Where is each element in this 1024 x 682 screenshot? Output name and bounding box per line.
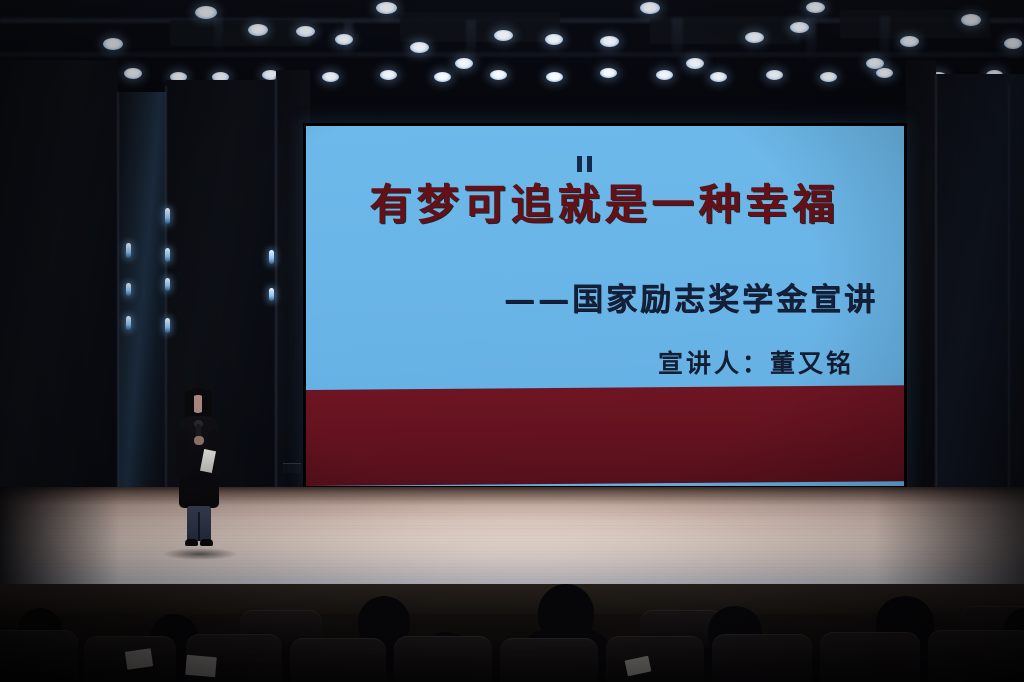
wall-strip-light [165, 318, 170, 333]
wall-strip-light [126, 243, 131, 258]
audience-area [0, 584, 1024, 682]
wall-strip-light [126, 283, 131, 296]
floor-plank-line [0, 551, 1024, 552]
ceiling-rig-box [400, 12, 560, 42]
ceiling-lamp [1004, 38, 1022, 49]
wall-strip-light [165, 248, 170, 262]
ceiling-lamp [710, 72, 727, 82]
wall-panel-edge [935, 74, 937, 529]
floor-plank-line [0, 493, 1024, 494]
floor-plank-line [0, 560, 1024, 561]
ceiling-lamp [124, 68, 142, 79]
ceiling-lamp [745, 32, 764, 43]
floor-plank-line [0, 496, 1024, 497]
ceiling-lamp [790, 22, 809, 33]
presenter-shoe-left [185, 539, 198, 546]
ceiling-lamp [600, 36, 619, 47]
ceiling-lamp [686, 58, 704, 69]
audience-paper [125, 648, 153, 669]
lamp-stem [214, 18, 223, 52]
wall-panel-far-right [936, 74, 1024, 529]
slide-bottom-band [306, 385, 904, 486]
presenter-shoe-right [200, 539, 213, 546]
ceiling-lamp [490, 70, 507, 80]
floor-plank-line [0, 554, 1024, 555]
ceiling-lamp [322, 72, 339, 82]
ceiling-lamp [494, 30, 513, 41]
audience-seat [500, 638, 598, 682]
ceiling-lamp [820, 72, 837, 82]
wall-panel-edge [1008, 84, 1010, 524]
presentation-slide[interactable]: 有梦可追就是一种幸福 ——国家励志奖学金宣讲 宣讲人：董又铭 [306, 126, 904, 486]
audience-seat [394, 636, 492, 682]
wall-panel-edge [165, 86, 167, 526]
ceiling-lamp [380, 70, 397, 80]
audience-seat [0, 630, 78, 682]
ceiling-lamp [806, 2, 825, 13]
floor-plank-line [0, 509, 1024, 510]
floor-plank-line [0, 579, 1024, 580]
audience-seat [820, 632, 920, 682]
ceiling-lamp [195, 6, 217, 19]
ceiling-lighting-rig [0, 0, 1024, 104]
floor-plank-line [0, 503, 1024, 504]
floor-plank-line [0, 570, 1024, 571]
quote-mark-icon [577, 156, 601, 172]
wall-panel-edge [117, 92, 119, 522]
ceiling-lamp [434, 72, 451, 82]
ceiling-lamp [961, 14, 981, 26]
floor-plank-line [0, 499, 1024, 500]
audience-seat [712, 634, 812, 682]
ceiling-lamp [546, 72, 563, 82]
lamp-stem [880, 16, 890, 60]
slide-subtitle: ——国家励志奖学金宣讲 [504, 274, 878, 319]
slide-presenter-line: 宣讲人：董又铭 [658, 344, 854, 380]
ceiling-lamp [900, 36, 919, 47]
wall-strip-light [126, 316, 131, 330]
wall-strip-light [165, 208, 170, 224]
lamp-stem [672, 18, 683, 62]
floor-plank-line [0, 522, 1024, 523]
ceiling-lamp [600, 68, 617, 78]
ceiling-lamp [103, 38, 123, 50]
wall-panel-edge [275, 76, 277, 526]
ceiling-lamp [410, 42, 429, 53]
floor-plank-line [0, 541, 1024, 542]
floor-plank-line [0, 506, 1024, 507]
floor-plank-line [0, 567, 1024, 568]
ceiling-lamp [640, 2, 660, 14]
floor-plank-line [0, 563, 1024, 564]
audience-backwall [0, 584, 1024, 618]
floor-plank-line [0, 576, 1024, 577]
wall-panel-right-near-screen [906, 60, 936, 530]
floor-plank-line [0, 525, 1024, 526]
wall-strip-light [269, 250, 274, 264]
floor-plank-line [0, 538, 1024, 539]
wall-panel-far-left [0, 60, 118, 560]
floor-plank-line [0, 531, 1024, 532]
ceiling-lamp [296, 26, 315, 37]
presenter-figure[interactable] [170, 388, 228, 553]
wall-vent [283, 463, 301, 473]
ceiling-lamp [876, 68, 893, 78]
floor-plank-line [0, 515, 1024, 516]
audience-paper [185, 655, 217, 678]
presenter-hand [194, 436, 204, 445]
ceiling-truss [0, 52, 1024, 57]
wall-strip-light [269, 288, 274, 301]
audience-seat [928, 630, 1024, 682]
lamp-stem [466, 20, 476, 62]
ceiling-lamp [656, 70, 673, 80]
ceiling-lamp [455, 58, 473, 69]
floor-plank-line [0, 512, 1024, 513]
wall-strip-light [165, 278, 170, 291]
slide-title: 有梦可追就是一种幸福 [306, 171, 904, 232]
wall-panel-sheen-left [118, 92, 166, 522]
auditorium-scene: 有梦可追就是一种幸福 ——国家励志奖学金宣讲 宣讲人：董又铭 [0, 0, 1024, 682]
floor-plank-line [0, 573, 1024, 574]
presenter-arm-left [176, 430, 189, 478]
audience-seat [290, 638, 386, 682]
floor-plank-line [0, 557, 1024, 558]
ceiling-lamp [766, 70, 783, 80]
floor-plank-line [0, 544, 1024, 545]
audience-seat [606, 636, 704, 682]
presenter-leg-gap [198, 512, 200, 541]
ceiling-lamp [545, 34, 563, 45]
floor-plank-line [0, 528, 1024, 529]
floor-plank-line [0, 547, 1024, 548]
floor-plank-line [0, 535, 1024, 536]
ceiling-rig-box [170, 20, 310, 46]
floor-plank-line [0, 519, 1024, 520]
ceiling-lamp [335, 34, 353, 45]
ceiling-lamp [376, 2, 397, 14]
projection-screen[interactable]: 有梦可追就是一种幸福 ——国家励志奖学金宣讲 宣讲人：董又铭 [303, 123, 907, 489]
ceiling-lamp [248, 24, 268, 36]
